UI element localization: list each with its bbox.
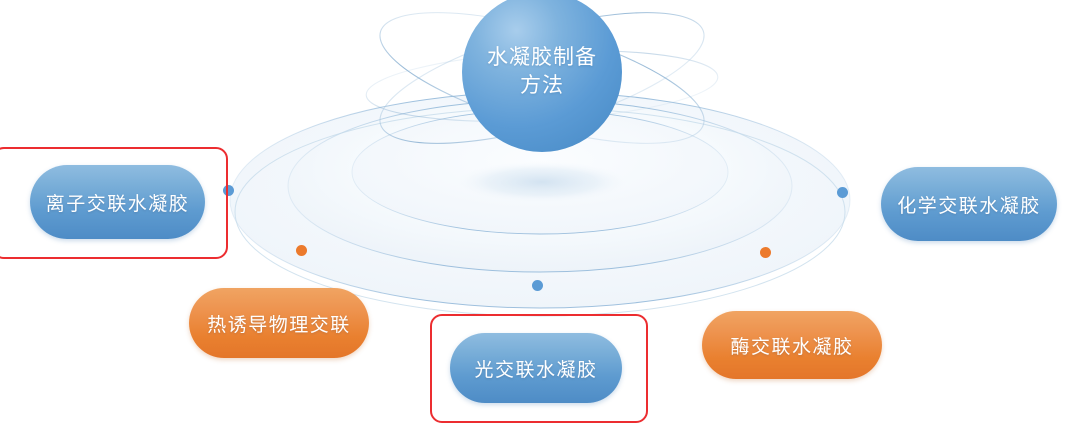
node-chemical-crosslinked-hydrogel[interactable]: 化学交联水凝胶 [881,167,1057,241]
orbit-dot-left-orange [296,245,307,256]
node-thermal-label: 热诱导物理交联 [207,310,351,337]
orbit-dot-bottom-blue [532,280,543,291]
node-enzyme-label: 酶交联水凝胶 [730,332,853,359]
node-thermal-physical-crosslinking[interactable]: 热诱导物理交联 [189,288,369,358]
orbit-dot-right-orange [760,247,771,258]
node-chemical-label: 化学交联水凝胶 [897,191,1041,218]
sphere-contact-shadow [450,160,634,204]
node-enzyme-crosslinked-hydrogel[interactable]: 酶交联水凝胶 [702,311,882,379]
highlight-box-photo [430,314,648,423]
highlight-box-ionic [0,147,228,259]
diagram-canvas: 水凝胶制备 方法 离子交联水凝胶 化学交联水凝胶 热诱导物理交联 光交联水凝胶 … [0,0,1080,436]
orbit-dot-right-blue [837,187,848,198]
central-sphere-label: 水凝胶制备 方法 [487,44,597,101]
